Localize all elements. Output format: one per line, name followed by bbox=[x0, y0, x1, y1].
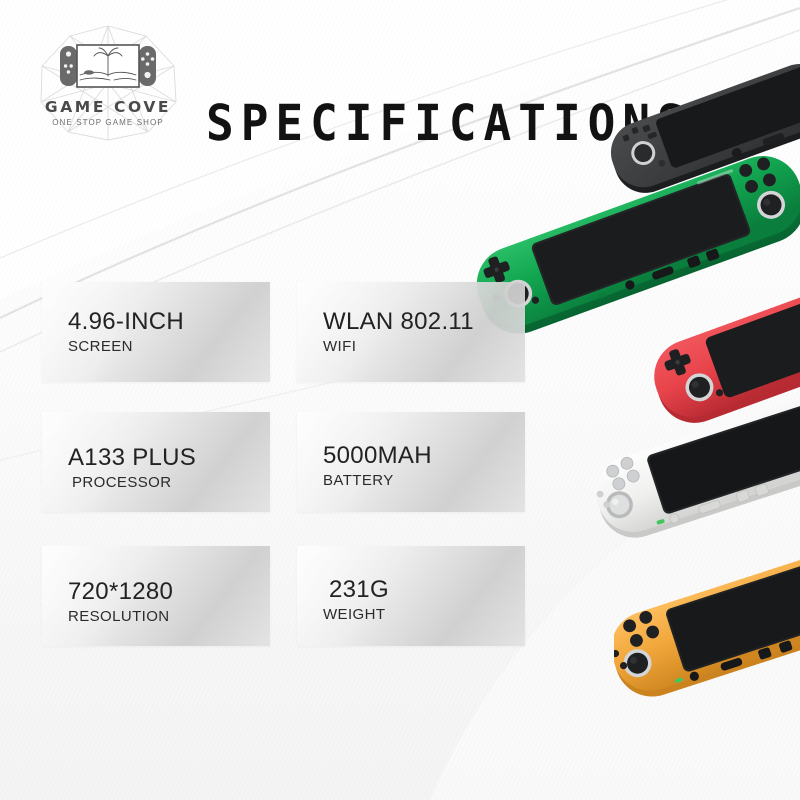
specifications-poster: GAME COVE ONE STOP GAME SHOP SPECIFICATI… bbox=[0, 0, 800, 800]
spec-card-wifi: WLAN 802.11 WIFI bbox=[297, 282, 525, 382]
spec-label: BATTERY bbox=[323, 472, 394, 489]
spec-label: WEIGHT bbox=[323, 606, 385, 623]
spec-value: A133 PLUS bbox=[68, 444, 196, 472]
spec-value: 720*1280 bbox=[68, 578, 173, 606]
spec-card-resolution: 720*1280 RESOLUTION bbox=[42, 546, 270, 646]
spec-label: PROCESSOR bbox=[72, 474, 171, 491]
spec-card-screen: 4.96-INCH SCREEN bbox=[42, 282, 270, 382]
spec-card-grid: 4.96-INCH SCREEN WLAN 802.11 WIFI A133 P… bbox=[0, 0, 800, 800]
spec-value: 5000MAH bbox=[323, 442, 432, 470]
spec-value: 231G bbox=[329, 576, 389, 604]
spec-label: SCREEN bbox=[68, 338, 133, 355]
spec-label: WIFI bbox=[323, 338, 356, 355]
spec-card-battery: 5000MAH BATTERY bbox=[297, 412, 525, 512]
spec-card-weight: 231G WEIGHT bbox=[297, 546, 525, 646]
spec-value: 4.96-INCH bbox=[68, 308, 184, 336]
spec-value: WLAN 802.11 bbox=[323, 308, 474, 336]
spec-card-processor: A133 PLUS PROCESSOR bbox=[42, 412, 270, 512]
spec-label: RESOLUTION bbox=[68, 608, 170, 625]
